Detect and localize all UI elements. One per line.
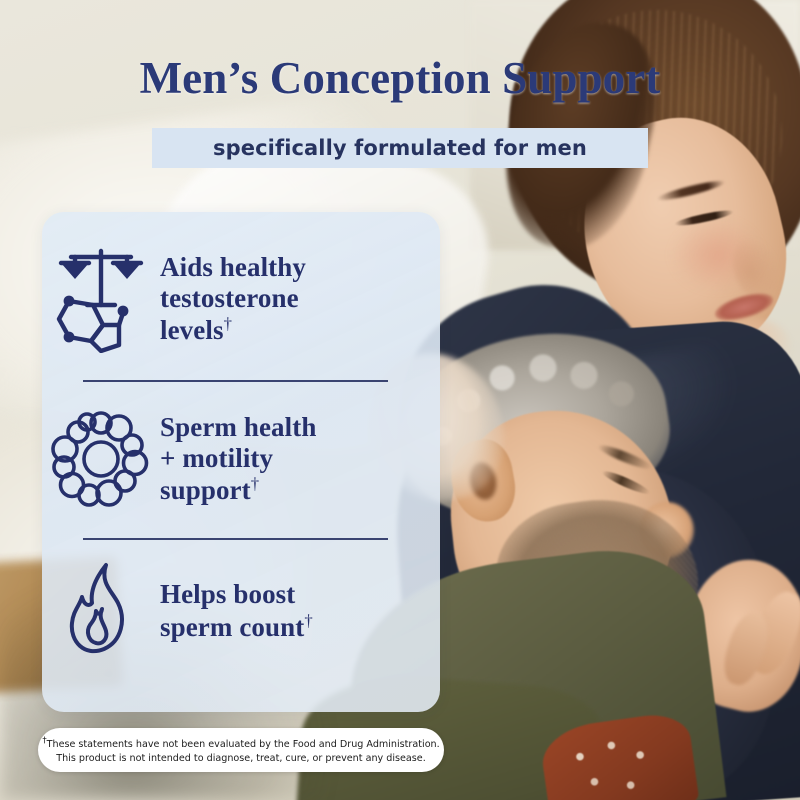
disclaimer-text-1: These statements have not been evaluated… bbox=[47, 739, 440, 750]
disclaimer-line-1: †These statements have not been evaluate… bbox=[42, 735, 439, 752]
balance-scale-molecule-icon bbox=[42, 245, 160, 353]
disclaimer-line-2: This product is not intended to diagnose… bbox=[56, 752, 426, 766]
feature-line-3: support bbox=[160, 475, 251, 505]
flame-icon bbox=[42, 561, 160, 661]
feature-text: Aids healthy testosterone levels† bbox=[160, 252, 306, 347]
ovum-sperm-cluster-icon bbox=[42, 409, 160, 509]
feature-line-1: Sperm health bbox=[160, 412, 316, 442]
benefits-card: Aids healthy testosterone levels† bbox=[42, 212, 440, 712]
feature-row: Sperm health + motility support† bbox=[42, 384, 440, 534]
feature-line-1: Aids healthy bbox=[160, 252, 306, 282]
dagger-mark: † bbox=[304, 611, 312, 630]
feature-row: Aids healthy testosterone levels† bbox=[42, 224, 440, 374]
feature-line-1: Helps boost bbox=[160, 579, 295, 609]
feature-text: Sperm health + motility support† bbox=[160, 412, 316, 507]
feature-divider bbox=[83, 380, 388, 382]
feature-line-3: levels bbox=[160, 315, 224, 345]
page-title: Men’s Conception Support bbox=[0, 52, 800, 104]
feature-line-2: testosterone bbox=[160, 283, 299, 313]
subtitle-band: specifically formulated for men bbox=[152, 128, 648, 168]
feature-row: Helps boost sperm count† bbox=[42, 546, 440, 676]
feature-text: Helps boost sperm count† bbox=[160, 579, 313, 643]
dagger-mark: † bbox=[224, 314, 232, 333]
fda-disclaimer: †These statements have not been evaluate… bbox=[38, 728, 444, 772]
feature-line-2: + motility bbox=[160, 443, 273, 473]
dagger-mark: † bbox=[251, 474, 259, 493]
feature-line-2: sperm count bbox=[160, 612, 304, 642]
subtitle-text: specifically formulated for men bbox=[213, 136, 587, 160]
promo-banner: Men’s Conception Support specifically fo… bbox=[0, 0, 800, 800]
feature-divider bbox=[83, 538, 388, 540]
